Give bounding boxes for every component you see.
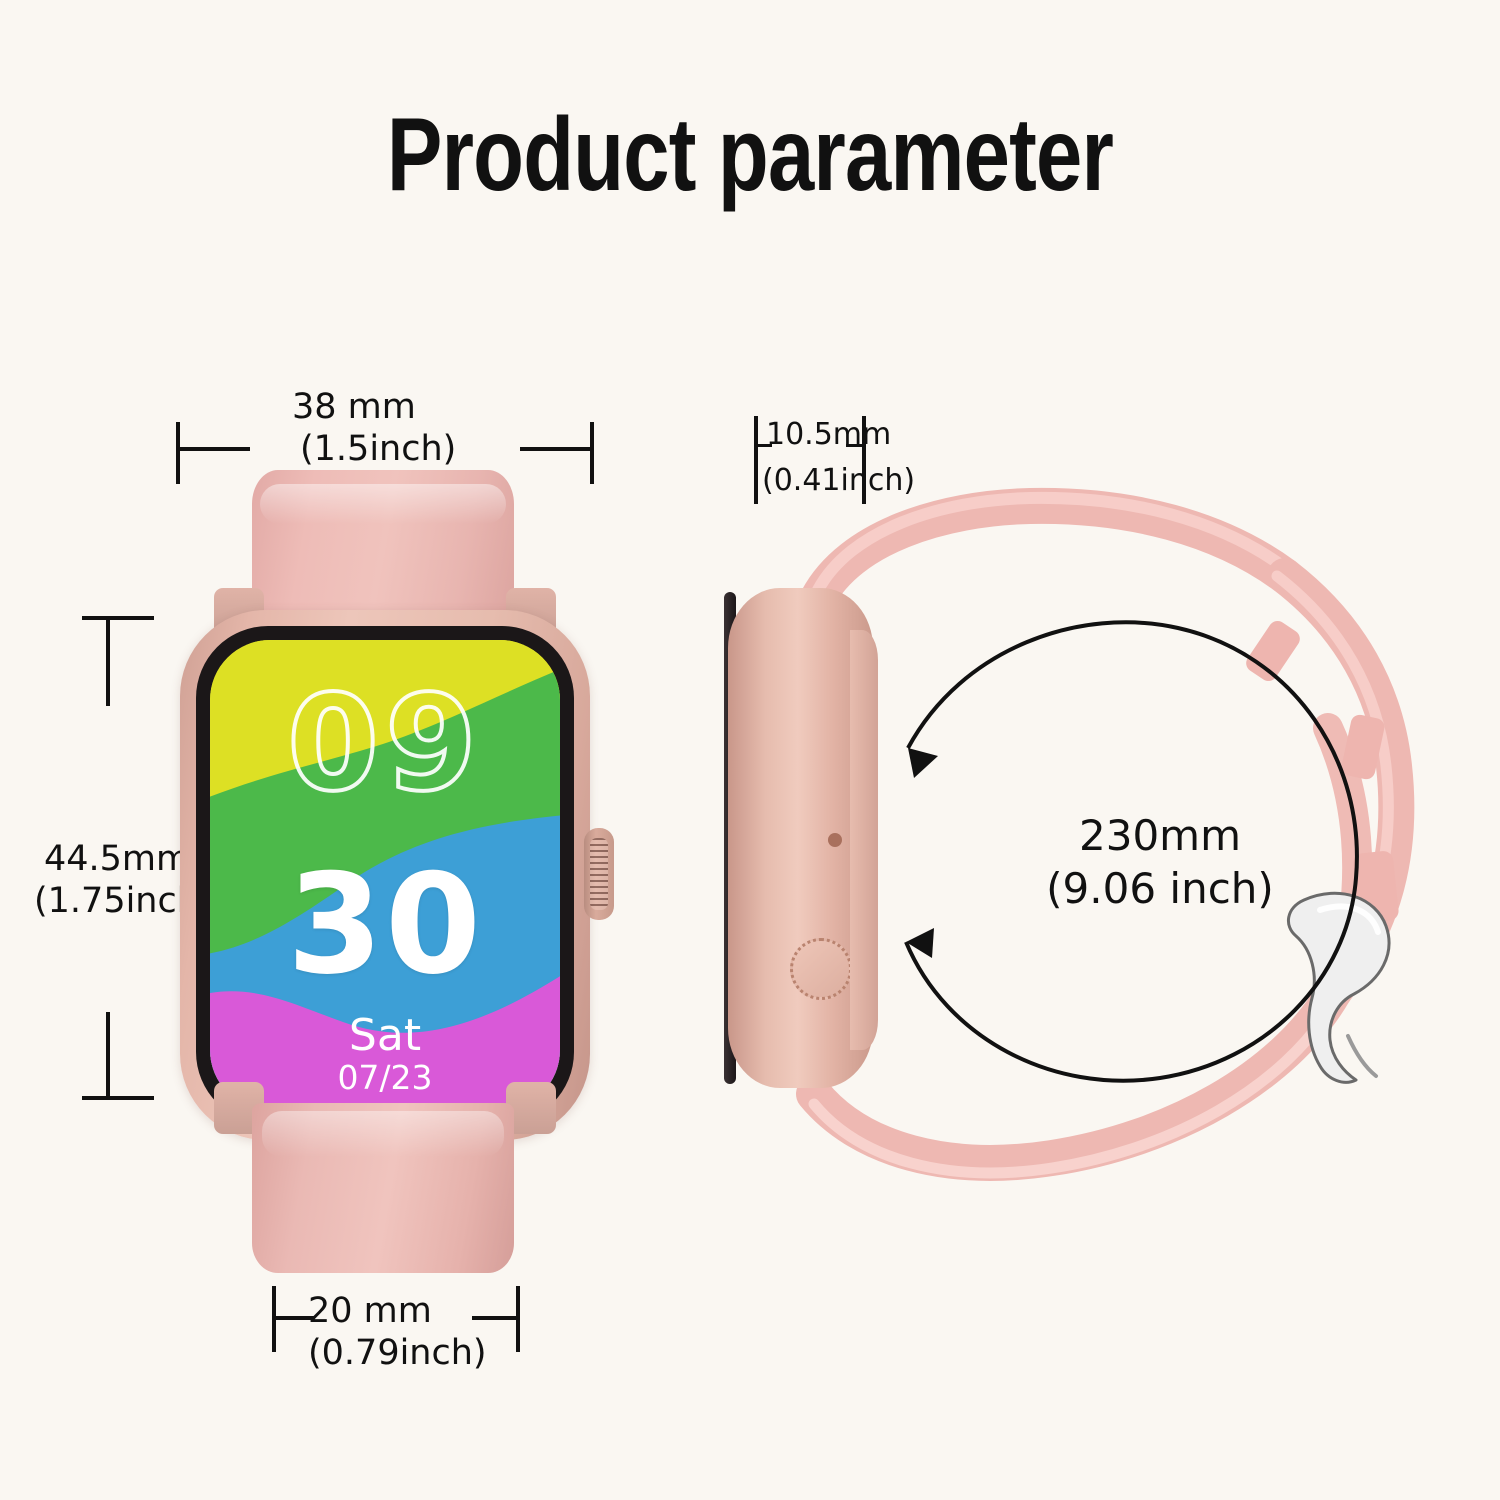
microphone-hole-icon (828, 833, 842, 847)
watch-face-minutes: 30 (210, 856, 560, 994)
height-dim-arm-bottom (106, 1012, 110, 1100)
circumference-inch: (9.06 inch) (1000, 863, 1320, 916)
width-dimension-mm: 38 mm (292, 388, 416, 427)
thickness-arm-right (846, 444, 864, 447)
watch-face-weekday: Sat (210, 1014, 560, 1058)
band-width-dimension-mm: 20 mm (308, 1292, 432, 1331)
product-parameter-page: Product parameter 38 mm (1.5inch) 44.5mm… (0, 0, 1500, 1500)
height-dim-arm-top (106, 616, 110, 706)
watch-screen[interactable]: 09 30 Sat 07/23 (210, 640, 560, 1110)
height-dim-tick-top (82, 616, 154, 620)
thickness-dimension-mm: 10.5mm (766, 418, 891, 452)
watch-bezel: 09 30 Sat 07/23 (196, 626, 574, 1124)
band-width-dimension-inch: (0.79inch) (308, 1334, 487, 1373)
page-title: Product parameter (150, 96, 1350, 215)
circumference-mm: 230mm (1000, 810, 1320, 863)
circumference-label: 230mm (9.06 inch) (1000, 810, 1320, 915)
watch-side-sensor-disc (790, 938, 852, 1000)
band-width-arm-right (472, 1316, 518, 1320)
width-dim-arm-right (520, 447, 594, 451)
band-width-arm-left (272, 1316, 314, 1320)
watch-crown-button[interactable] (584, 828, 614, 920)
watch-strap-bottom (252, 1103, 514, 1273)
width-dim-arm-left (176, 447, 250, 451)
height-dim-tick-bottom (82, 1096, 154, 1100)
smartwatch-side-view: 230mm (9.06 inch) (700, 480, 1460, 1310)
watch-case: 09 30 Sat 07/23 (180, 610, 590, 1140)
watch-face-hours: 09 (210, 678, 560, 810)
smartwatch-front-view: 09 30 Sat 07/23 (160, 470, 610, 1270)
watch-side-button-edge[interactable] (850, 630, 878, 1050)
width-dimension-inch: (1.5inch) (300, 430, 456, 469)
thickness-arm-left (754, 444, 772, 447)
